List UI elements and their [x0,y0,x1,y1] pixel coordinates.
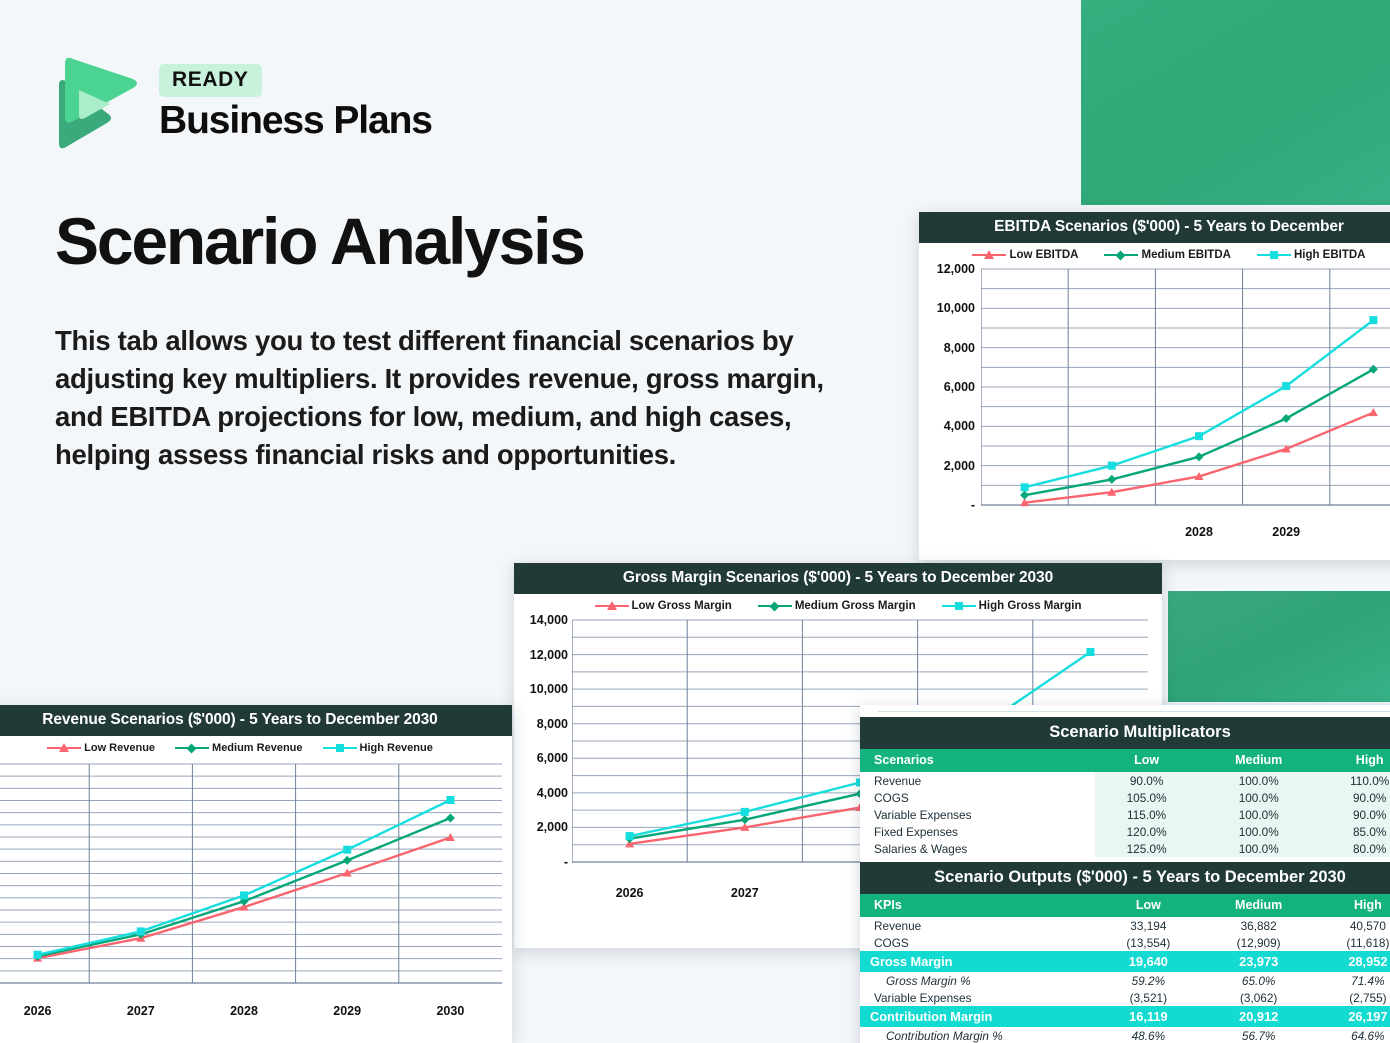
legend-label: Low Revenue [84,742,155,754]
col-medium: Medium [1202,894,1316,917]
row-value: 100.0% [1198,823,1319,840]
row-value: 125.0% [1095,840,1198,857]
gross-margin-chart-title: Gross Margin Scenarios ($'000) - 5 Years… [514,563,1162,594]
decorative-green-block-mid [1168,591,1390,702]
row-value: 120.0% [1095,823,1198,840]
y-tick-label: 10,000 [530,682,568,696]
legend-item-medium-gross-margin: Medium Gross Margin [758,600,916,612]
revenue-chart-title: Revenue Scenarios ($'000) - 5 Years to D… [0,705,512,736]
y-tick-label: 4,000 [537,786,568,800]
col-medium: Medium [1198,749,1319,772]
low-series-swatch-icon [595,600,629,612]
legend-item-low-gross-margin: Low Gross Margin [595,600,732,612]
table-row: COGS105.0%100.0%90.0% [860,789,1390,806]
x-tick-label: 2029 [333,1004,361,1018]
y-tick-label: 2,000 [537,820,568,834]
page-title: Scenario Analysis [55,208,584,274]
row-value: 64.6% [1316,1027,1390,1043]
row-label: Salaries & Wages [860,840,1095,857]
row-label: Gross Margin % [860,972,1095,989]
y-tick-label: 12,000 [937,262,975,276]
x-tick-label: 2026 [24,1004,52,1018]
col-high: High [1316,894,1390,917]
row-value: (3,521) [1095,989,1201,1006]
row-value: 20,912 [1202,1006,1316,1027]
revenue-plot-area: 20262027202820292030 [0,756,512,1018]
page-description: This tab allows you to test different fi… [55,322,855,474]
y-tick-label: 8,000 [944,341,975,355]
table-row: Variable Expenses115.0%100.0%90.0% [860,806,1390,823]
y-tick-label: 8,000 [537,717,568,731]
page-root: READY Business Plans Scenario Analysis T… [0,0,1390,1043]
table-row: Salaries & Wages125.0%100.0%80.0% [860,840,1390,857]
high-series-swatch-icon [942,600,976,612]
legend-item-medium-revenue: Medium Revenue [175,742,302,754]
ebitda-chart-card: EBITDA Scenarios ($'000) - 5 Years to De… [919,212,1390,560]
table-row: Revenue33,19436,88240,570 [860,917,1390,934]
table-row: Contribution Margin %48.6%56.7%64.6% [860,1027,1390,1043]
multiplicators-table: Scenarios Low Medium High Revenue90.0%10… [860,749,1390,857]
row-value: 65.0% [1202,972,1316,989]
legend-item-high-revenue: High Revenue [323,742,433,754]
decorative-green-block-top [1081,0,1390,205]
x-tick-label: 2026 [616,886,644,900]
y-tick-label: 4,000 [944,419,975,433]
row-value: 40,570 [1316,917,1390,934]
outputs-table: KPIs Low Medium High Revenue33,19436,882… [860,894,1390,1043]
row-value: 100.0% [1198,840,1319,857]
table-row: Fixed Expenses120.0%100.0%85.0% [860,823,1390,840]
table-row: COGS(13,554)(12,909)(11,618) [860,934,1390,951]
panel-divider [878,705,1390,712]
ebitda-chart-legend: Low EBITDA Medium EBITDA High EBITDA [919,243,1390,263]
y-tick-label: 14,000 [530,613,568,627]
row-value: 105.0% [1095,789,1198,806]
revenue-chart-legend: Low Revenue Medium Revenue High Revenue [0,736,512,756]
col-low: Low [1095,894,1201,917]
row-label: COGS [860,934,1095,951]
table-row: Variable Expenses(3,521)(3,062)(2,755) [860,989,1390,1006]
legend-label: High EBITDA [1294,249,1366,261]
legend-label: Medium Gross Margin [795,600,916,612]
scenario-data-panel: Scenario Multiplicators Scenarios Low Me… [860,705,1390,1043]
row-value: 100.0% [1198,789,1319,806]
multiplicators-title: Scenario Multiplicators [860,717,1390,749]
legend-item-medium-ebitda: Medium EBITDA [1104,249,1230,261]
row-value: (11,618) [1316,934,1390,951]
outputs-title: Scenario Outputs ($'000) - 5 Years to De… [860,862,1390,894]
row-value: 115.0% [1095,806,1198,823]
legend-label: Low Gross Margin [632,600,732,612]
row-label: Contribution Margin % [860,1027,1095,1043]
high-series-swatch-icon [1257,249,1291,261]
outputs-header-row: KPIs Low Medium High [860,894,1390,917]
row-value: 33,194 [1095,917,1201,934]
legend-label: High Revenue [360,742,433,754]
brand-name: Business Plans [159,101,432,142]
row-value: 90.0% [1319,789,1390,806]
legend-label: Low EBITDA [1009,249,1078,261]
col-kpis: KPIs [860,894,1095,917]
brand-logo: READY Business Plans [55,55,432,151]
table-row: Revenue90.0%100.0%110.0% [860,772,1390,789]
ready-badge: READY [159,64,262,97]
row-value: 56.7% [1202,1027,1316,1043]
row-value: 59.2% [1095,972,1201,989]
row-value: 80.0% [1319,840,1390,857]
row-value: 100.0% [1198,806,1319,823]
medium-series-swatch-icon [1104,249,1138,261]
multiplicators-header-row: Scenarios Low Medium High [860,749,1390,772]
y-tick-label: - [564,855,568,869]
row-value: 71.4% [1316,972,1390,989]
col-scenarios: Scenarios [860,749,1095,772]
row-value: (12,909) [1202,934,1316,951]
row-value: 48.6% [1095,1027,1201,1043]
x-tick-label: 2028 [230,1004,258,1018]
low-series-swatch-icon [972,249,1006,261]
gross-margin-chart-legend: Low Gross Margin Medium Gross Margin Hig… [514,594,1162,614]
row-label: Fixed Expenses [860,823,1095,840]
row-label: Variable Expenses [860,806,1095,823]
x-tick-label: 2030 [436,1004,464,1018]
row-value: 28,952 [1316,951,1390,972]
row-value: 110.0% [1319,772,1390,789]
medium-series-swatch-icon [758,600,792,612]
legend-item-low-ebitda: Low EBITDA [972,249,1078,261]
high-series-swatch-icon [323,742,357,754]
ebitda-y-axis-labels: -2,0004,0006,0008,00010,00012,000 [919,263,975,523]
legend-label: Medium EBITDA [1141,249,1230,261]
row-value: 19,640 [1095,951,1201,972]
y-tick-label: 10,000 [937,301,975,315]
legend-item-high-gross-margin: High Gross Margin [942,600,1082,612]
row-value: (2,755) [1316,989,1390,1006]
legend-item-high-ebitda: High EBITDA [1257,249,1366,261]
y-tick-label: 6,000 [944,380,975,394]
table-row: Gross Margin %59.2%65.0%71.4% [860,972,1390,989]
col-high: High [1319,749,1390,772]
row-value: (3,062) [1202,989,1316,1006]
col-low: Low [1095,749,1198,772]
row-label: Contribution Margin [860,1006,1095,1027]
row-value: 90.0% [1095,772,1198,789]
row-value: 26,197 [1316,1006,1390,1027]
row-value: 90.0% [1319,806,1390,823]
row-label: COGS [860,789,1095,806]
row-value: 36,882 [1202,917,1316,934]
x-tick-label: 2027 [127,1004,155,1018]
play-triangle-logo-icon [55,55,141,151]
row-value: (13,554) [1095,934,1201,951]
table-row: Contribution Margin16,11920,91226,197 [860,1006,1390,1027]
row-value: 85.0% [1319,823,1390,840]
row-label: Revenue [860,772,1095,789]
y-tick-label: 12,000 [530,648,568,662]
medium-series-swatch-icon [175,742,209,754]
row-value: 16,119 [1095,1006,1201,1027]
legend-label: Medium Revenue [212,742,302,754]
row-label: Gross Margin [860,951,1095,972]
x-tick-label: 2028 [1185,525,1213,539]
row-label: Variable Expenses [860,989,1095,1006]
table-row: Gross Margin19,64023,97328,952 [860,951,1390,972]
row-label: Revenue [860,917,1095,934]
ebitda-plot-area: -2,0004,0006,0008,00010,00012,000 202820… [919,263,1390,533]
legend-label: High Gross Margin [979,600,1082,612]
y-tick-label: - [971,498,975,512]
low-series-swatch-icon [47,742,81,754]
gross-margin-y-axis-labels: -2,0004,0006,0008,00010,00012,00014,000 [514,614,568,880]
row-value: 100.0% [1198,772,1319,789]
y-tick-label: 2,000 [944,459,975,473]
row-value: 23,973 [1202,951,1316,972]
y-tick-label: 6,000 [537,751,568,765]
x-tick-label: 2029 [1272,525,1300,539]
x-tick-label: 2027 [731,886,759,900]
revenue-chart-card: Revenue Scenarios ($'000) - 5 Years to D… [0,705,512,1043]
legend-item-low-revenue: Low Revenue [47,742,155,754]
ebitda-chart-title: EBITDA Scenarios ($'000) - 5 Years to De… [919,212,1390,243]
